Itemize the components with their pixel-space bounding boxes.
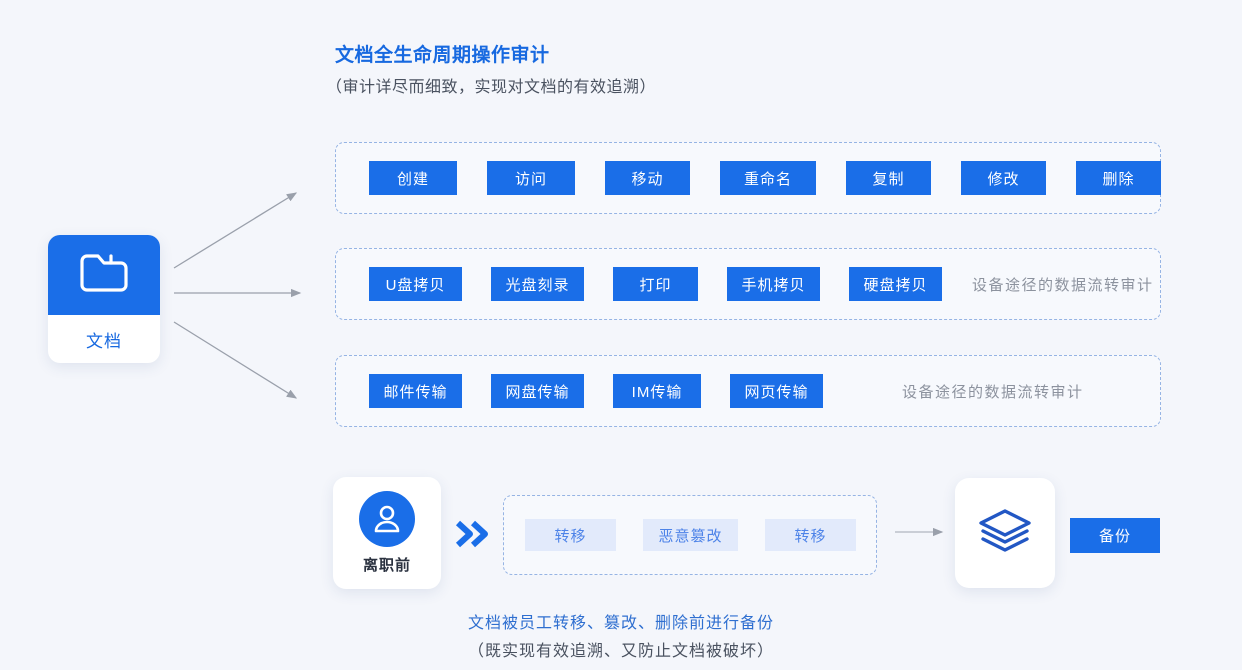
document-card[interactable]: 文档: [48, 235, 160, 363]
pre-departure-label: 离职前: [363, 554, 411, 575]
audit-channel-button[interactable]: IM传输: [613, 374, 701, 408]
network-channel-audit-row: 邮件传输 网盘传输 IM传输 网页传输 设备途径的数据流转审计: [335, 355, 1161, 427]
document-card-label: 文档: [48, 315, 160, 363]
document-card-icon-area: [48, 235, 160, 315]
device-channel-audit-row: U盘拷贝 光盘刻录 打印 手机拷贝 硬盘拷贝 设备途径的数据流转审计: [335, 248, 1161, 320]
audit-channel-button[interactable]: 硬盘拷贝: [849, 267, 942, 301]
risk-pill[interactable]: 转移: [765, 519, 856, 551]
bottom-caption-sub: （既实现有效追溯、又防止文档被破坏）: [0, 637, 1242, 661]
backup-card[interactable]: [955, 478, 1055, 588]
audit-action-button[interactable]: 删除: [1076, 161, 1161, 195]
audit-action-button[interactable]: 创建: [369, 161, 457, 195]
bottom-caption-main: 文档被员工转移、篡改、删除前进行备份: [0, 609, 1242, 633]
file-operation-audit-row: 创建 访问 移动 重命名 复制 修改 删除: [335, 142, 1161, 214]
infographic-canvas: 文档全生命周期操作审计 （审计详尽而细致，实现对文档的有效追溯） 文档 创建 访…: [0, 0, 1242, 670]
audit-action-button[interactable]: 复制: [846, 161, 931, 195]
audit-action-button[interactable]: 重命名: [720, 161, 816, 195]
audit-channel-button[interactable]: 网页传输: [730, 374, 823, 408]
departure-risk-row: 转移 恶意篡改 转移: [503, 495, 877, 575]
row-note: 设备途径的数据流转审计: [972, 274, 1154, 295]
backup-button[interactable]: 备份: [1070, 518, 1160, 553]
page-subtitle: （审计详尽而细致，实现对文档的有效追溯）: [326, 73, 656, 97]
audit-action-button[interactable]: 修改: [961, 161, 1046, 195]
risk-pill[interactable]: 转移: [525, 519, 616, 551]
double-chevron-right-icon: [455, 518, 491, 550]
person-icon: [359, 491, 415, 547]
audit-channel-button[interactable]: 光盘刻录: [491, 267, 584, 301]
audit-channel-button[interactable]: 打印: [613, 267, 698, 301]
audit-action-button[interactable]: 移动: [605, 161, 690, 195]
risk-pill[interactable]: 恶意篡改: [643, 519, 738, 551]
audit-channel-button[interactable]: U盘拷贝: [369, 267, 462, 301]
audit-channel-button[interactable]: 邮件传输: [369, 374, 462, 408]
audit-action-button[interactable]: 访问: [487, 161, 575, 195]
folder-icon: [78, 251, 130, 300]
row-note: 设备途径的数据流转审计: [902, 381, 1084, 402]
audit-channel-button[interactable]: 手机拷贝: [727, 267, 820, 301]
pre-departure-card[interactable]: 离职前: [333, 477, 441, 589]
audit-channel-button[interactable]: 网盘传输: [491, 374, 584, 408]
layers-stack-icon: [977, 505, 1033, 562]
page-title: 文档全生命周期操作审计: [335, 40, 550, 67]
